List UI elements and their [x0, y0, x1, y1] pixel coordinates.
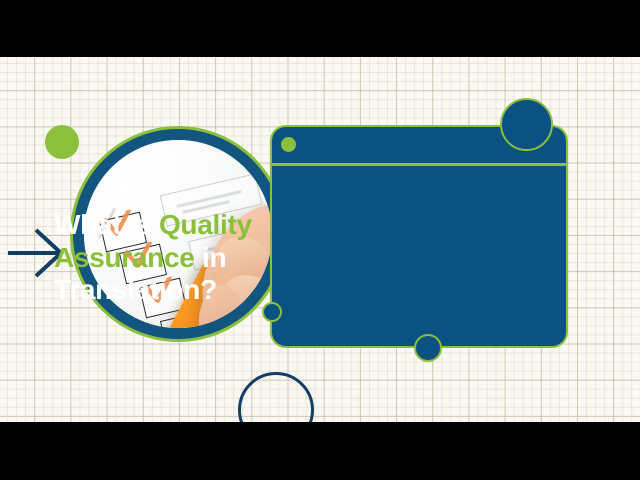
title-segment-plain-3: Translation? [54, 274, 217, 305]
title-segment-highlight-quality: Quality [159, 209, 252, 240]
slide-background: What Is Quality Assurance in Translation… [0, 57, 640, 422]
title-segment-plain-2: in [195, 242, 227, 273]
page-title: What Is Quality Assurance in Translation… [54, 209, 294, 307]
connector-node-icon [414, 334, 442, 362]
title-card [270, 125, 568, 348]
slide-canvas: What Is Quality Assurance in Translation… [0, 0, 640, 480]
connector-node-icon [262, 302, 282, 322]
navy-ring-icon [238, 372, 314, 422]
card-divider [272, 163, 566, 166]
title-segment-plain-1: What Is [54, 209, 159, 240]
connector-node-icon [500, 98, 553, 151]
title-segment-highlight-assurance: Assurance [54, 242, 195, 273]
letterbox-bottom [0, 422, 640, 480]
letterbox-top [0, 0, 640, 57]
green-dot-icon [45, 125, 79, 159]
green-dot-icon [281, 137, 296, 152]
